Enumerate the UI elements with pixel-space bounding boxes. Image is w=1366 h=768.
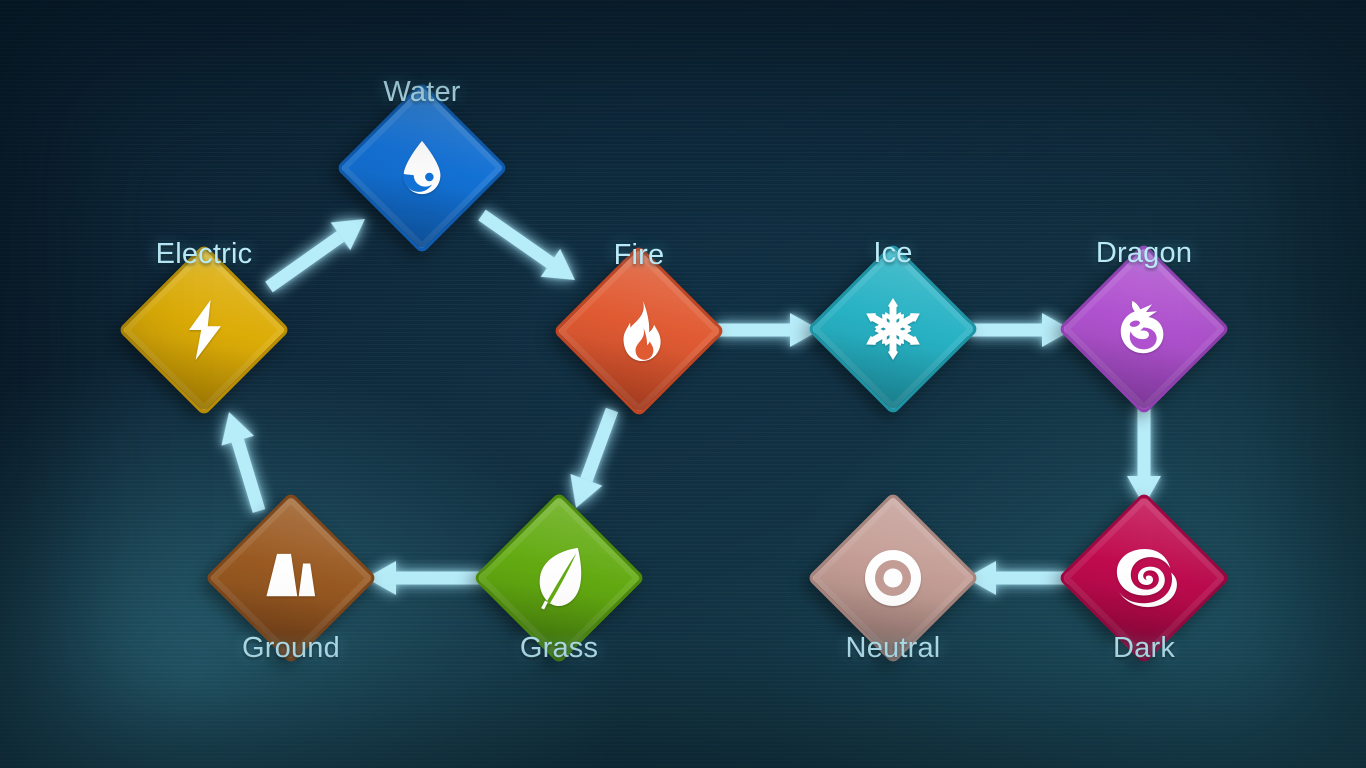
type-label-ice: Ice <box>873 237 912 270</box>
type-label-grass: Grass <box>520 632 598 665</box>
type-diamond-water[interactable] <box>361 107 483 229</box>
type-diamond-dragon[interactable] <box>1083 268 1205 390</box>
type-label-electric: Electric <box>156 238 253 271</box>
type-label-dragon: Dragon <box>1096 237 1192 270</box>
type-diamond-fire[interactable] <box>578 270 700 392</box>
type-label-dark: Dark <box>1113 632 1175 665</box>
arrow-dark-to-neutral <box>966 555 1068 601</box>
type-diamond-electric[interactable] <box>143 269 265 391</box>
arrow-water-to-fire <box>469 196 588 299</box>
type-label-neutral: Neutral <box>846 632 941 665</box>
arrow-ground-to-electric <box>207 405 281 517</box>
type-diamond-ground[interactable] <box>230 517 352 639</box>
type-label-fire: Fire <box>614 239 665 272</box>
arrow-grass-to-ground <box>366 555 490 601</box>
diagram-canvas: WaterElectricFireIceDragonGroundGrassNeu… <box>0 0 1366 768</box>
arrow-ice-to-dragon <box>968 307 1072 353</box>
arrow-fire-to-ice <box>716 307 820 353</box>
type-label-water: Water <box>383 76 460 109</box>
arrow-electric-to-water <box>256 200 379 306</box>
type-diamond-dark[interactable] <box>1083 517 1205 639</box>
type-label-ground: Ground <box>242 632 340 665</box>
type-diamond-grass[interactable] <box>498 517 620 639</box>
type-diamond-neutral[interactable] <box>832 517 954 639</box>
arrow-dragon-to-dark <box>1121 406 1167 506</box>
type-diamond-ice[interactable] <box>832 268 954 390</box>
